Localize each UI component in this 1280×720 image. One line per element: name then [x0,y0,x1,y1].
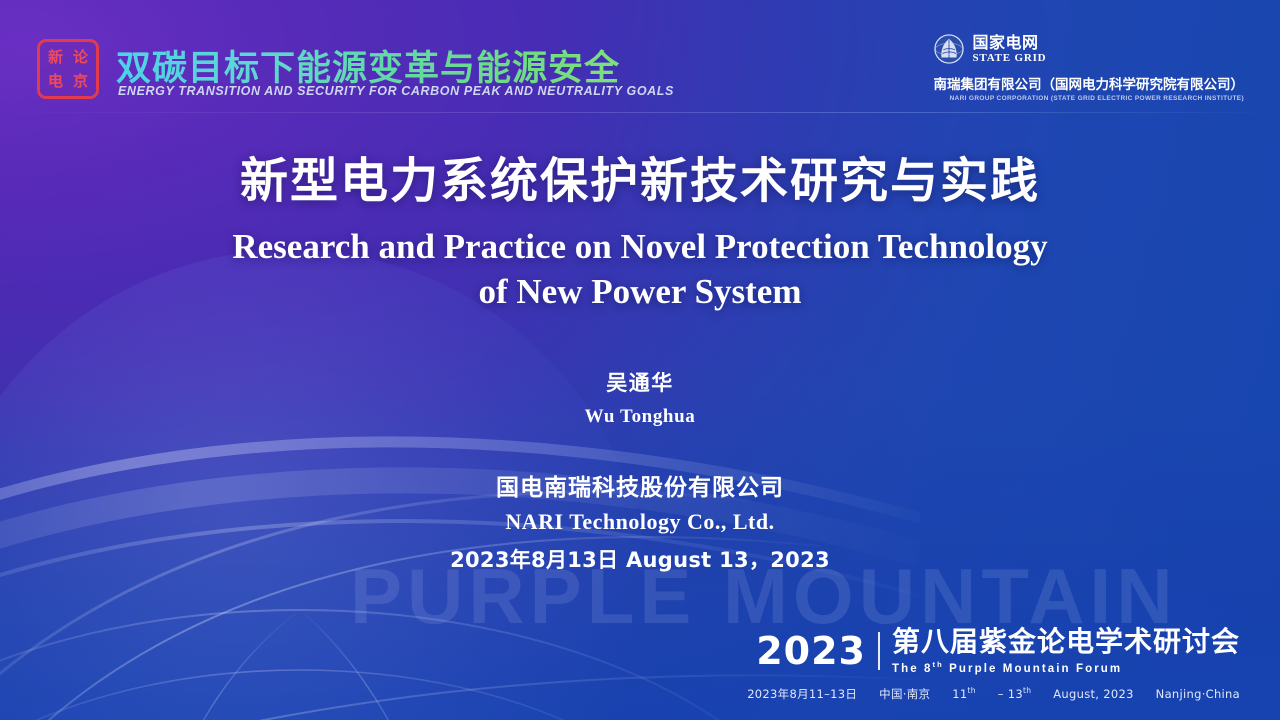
forum-meta-date-en: 11th – 13th August, 2023 [952,687,1133,701]
meta-date-en-mid: – 13 [994,687,1023,701]
sponsor-subsidiary-cn: 南瑞集团有限公司（国网电力科学研究院有限公司） [934,73,1245,93]
slide-header: 新 论 电 京 双碳目标下能源变革与能源安全 ENERGY TRANSITION… [0,0,1280,112]
seal-char-2: 论 [69,46,92,68]
presentation-title-slide: PURPLE MOUNTAIN 新 论 电 京 双碳目标下能源变革与能源安全 E… [0,0,1280,720]
affiliation-block: 国电南瑞科技股份有限公司 NARI Technology Co., Ltd. 2… [0,468,1280,574]
forum-meta-place-cn: 中国·南京 [879,687,930,701]
sponsor-names: 国家电网 STATE GRID [973,35,1047,64]
seal-char-3: 电 [44,70,67,92]
meta-date-en-suffix: August, 2023 [1049,687,1133,701]
affiliation-en: NARI Technology Co., Ltd. [0,509,1280,535]
forum-name-cn: 第八届紫金论电学术研讨会 [892,628,1240,656]
forum-meta-place-en: Nanjing·China [1156,687,1240,701]
sponsor-block: 国家电网 STATE GRID 南瑞集团有限公司（国网电力科学研究院有限公司） … [934,34,1245,102]
meta-date-en-ord2: th [1023,686,1031,695]
presentation-title-en-line2: of New Power System [0,270,1280,315]
forum-en-suffix: Purple Mountain Forum [944,663,1122,675]
slide-footer: 2023 第八届紫金论电学术研讨会 The 8th Purple Mountai… [747,628,1240,702]
forum-lockup: 2023 第八届紫金论电学术研讨会 The 8th Purple Mountai… [747,628,1240,675]
conference-theme-en: ENERGY TRANSITION AND SECURITY FOR CARBO… [118,84,674,98]
conference-seal-icon: 新 论 电 京 [37,39,99,99]
sponsor-subsidiary-en: NARI GROUP CORPORATION (STATE GRID ELECT… [934,95,1245,102]
affiliation-cn: 国电南瑞科技股份有限公司 [0,468,1280,502]
meta-date-en-ord1: th [968,686,976,695]
presentation-date: 2023年8月13日 August 13，2023 [0,544,1280,574]
forum-year: 2023 [756,632,866,670]
forum-meta-date-cn: 2023年8月11–13日 [747,687,857,701]
forum-en-prefix: The 8 [892,663,933,675]
meta-date-en-prefix: 11 [952,687,967,701]
sponsor-name-cn: 国家电网 [973,35,1047,51]
presentation-title-cn: 新型电力系统保护新技术研究与实践 [0,154,1280,209]
forum-meta-line: 2023年8月11–13日 中国·南京 11th – 13th August, … [747,686,1240,702]
forum-name-en: The 8th Purple Mountain Forum [892,661,1240,675]
seal-char-1: 新 [44,46,67,68]
forum-divider [878,632,880,670]
forum-en-ordinal: th [933,660,944,669]
header-divider [0,112,1280,113]
presenter-name-en: Wu Tonghua [0,406,1280,428]
presentation-title-en-line1: Research and Practice on Novel Protectio… [0,225,1280,270]
state-grid-logo-icon [934,34,964,64]
presenter-name-cn: 吴通华 [0,367,1280,397]
presentation-title-en: Research and Practice on Novel Protectio… [0,225,1280,315]
forum-names: 第八届紫金论电学术研讨会 The 8th Purple Mountain For… [892,628,1240,675]
seal-char-4: 京 [69,70,92,92]
sponsor-name-en: STATE GRID [973,53,1047,64]
slide-body: 新型电力系统保护新技术研究与实践 Research and Practice o… [0,130,1280,574]
sponsor-primary: 国家电网 STATE GRID [934,34,1245,64]
presenter-block: 吴通华 Wu Tonghua [0,367,1280,428]
